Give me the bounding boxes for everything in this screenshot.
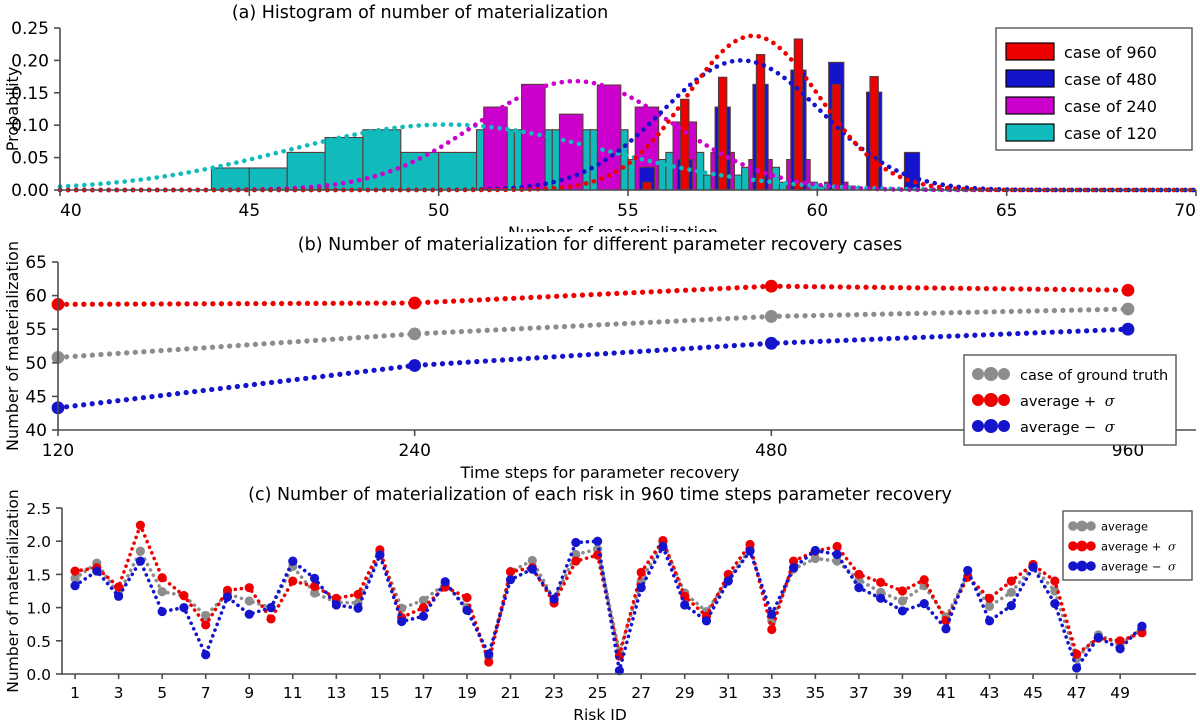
legend-marker: [984, 367, 998, 381]
data-point: [724, 576, 733, 585]
data-point: [288, 576, 297, 585]
data-point: [136, 557, 145, 566]
data-point: [114, 592, 123, 601]
legend-marker: [998, 368, 1010, 380]
legend-marker: [984, 419, 998, 433]
legend-marker: [1077, 561, 1088, 572]
data-point: [179, 591, 188, 600]
legend-label: case of 480: [1064, 70, 1157, 89]
data-point: [963, 566, 972, 575]
data-point: [1137, 622, 1146, 631]
data-point: [1007, 601, 1016, 610]
y-tick-label: 50: [25, 354, 47, 374]
legend-label: case of 240: [1064, 97, 1157, 116]
legend-marker: [998, 420, 1010, 432]
data-point: [811, 546, 820, 555]
data-point: [506, 575, 515, 584]
data-point: [898, 606, 907, 615]
data-point: [637, 583, 646, 592]
subplot-a-title: (a) Histogram of number of materializati…: [232, 3, 608, 23]
y-tick-label: 2.0: [26, 533, 51, 551]
x-tick-label: 60: [807, 201, 829, 221]
data-point: [1050, 576, 1059, 585]
data-point: [408, 328, 421, 341]
data-point: [920, 599, 929, 608]
histogram-bar: [794, 39, 802, 190]
subplot-c-legend: averageaverage + σaverage − σ: [1063, 511, 1192, 580]
data-point: [266, 614, 275, 623]
x-tick-label: 11: [283, 684, 303, 702]
legend-marker: [1077, 541, 1088, 552]
data-point: [876, 578, 885, 587]
data-point: [571, 557, 580, 566]
data-point: [898, 586, 907, 595]
x-tick-label: 7: [201, 684, 211, 702]
y-tick-label: 1.5: [26, 566, 51, 584]
y-tick-label: 45: [25, 387, 47, 407]
subplot-b-title: (b) Number of materialization for differ…: [298, 235, 902, 255]
legend-marker: [1086, 561, 1096, 571]
x-tick-label: 45: [1023, 684, 1043, 702]
data-point: [833, 550, 842, 559]
sigma-symbol: σ: [1105, 394, 1116, 410]
x-tick-label: 39: [893, 684, 913, 702]
data-point: [1007, 576, 1016, 585]
x-tick-label: 27: [631, 684, 651, 702]
x-tick-label: 25: [588, 684, 608, 702]
histogram-bar: [439, 152, 477, 190]
histogram-bar: [484, 107, 507, 190]
data-point: [528, 564, 537, 573]
legend-swatch: [1006, 70, 1054, 87]
data-point: [767, 625, 776, 634]
x-tick-label: 41: [936, 684, 956, 702]
data-point: [1094, 633, 1103, 642]
legend-marker: [1068, 541, 1078, 551]
legend-marker: [984, 393, 998, 407]
data-point: [179, 603, 188, 612]
data-point: [985, 602, 994, 611]
legend-marker: [972, 368, 984, 380]
x-tick-label: 55: [617, 201, 639, 221]
data-point: [484, 657, 493, 666]
y-tick-label: 0.00: [11, 181, 49, 201]
data-point: [1028, 563, 1037, 572]
data-point: [245, 610, 254, 619]
sigma-symbol: σ: [1168, 560, 1177, 574]
histogram-bar: [363, 130, 401, 190]
subplot-a-legend: case of 960case of 480case of 240case of…: [996, 28, 1192, 150]
data-point: [375, 551, 384, 560]
x-tick-label: 50: [428, 201, 450, 221]
data-point: [92, 566, 101, 575]
data-point: [462, 606, 471, 615]
histogram-bar: [719, 77, 727, 190]
y-tick-label: 0.25: [11, 19, 49, 39]
data-point: [397, 617, 406, 626]
data-point: [833, 542, 842, 551]
subplot-c-svg: (c) Number of materialization of each ri…: [0, 482, 1200, 727]
x-tick-label: 13: [326, 684, 346, 702]
data-point: [354, 604, 363, 613]
legend-marker: [1077, 521, 1088, 532]
legend-label: case of ground truth: [1020, 368, 1168, 384]
data-point: [136, 521, 145, 530]
x-tick-label: 49: [1110, 684, 1130, 702]
data-point: [637, 568, 646, 577]
x-tick-label: 40: [60, 201, 82, 221]
legend-marker: [1086, 521, 1096, 531]
data-point: [1007, 588, 1016, 597]
data-point: [1122, 303, 1135, 316]
subplot-b-lineplot: (b) Number of materialization for differ…: [0, 232, 1200, 482]
subplot-b-svg: (b) Number of materialization for differ…: [0, 232, 1200, 482]
data-point: [854, 570, 863, 579]
figure-canvas: (a) Histogram of number of materializati…: [0, 0, 1200, 727]
x-tick-label: 33: [762, 684, 782, 702]
x-tick-label: 35: [805, 684, 825, 702]
data-point: [549, 594, 558, 603]
legend-marker: [1068, 561, 1078, 571]
data-point: [70, 566, 79, 575]
x-tick-label: 1: [70, 684, 80, 702]
legend-swatch: [1006, 124, 1054, 141]
data-point: [1072, 663, 1081, 672]
data-point: [1116, 644, 1125, 653]
y-tick-label: 60: [25, 287, 47, 307]
sigma-symbol: σ: [1168, 540, 1177, 554]
subplot-c-title: (c) Number of materialization of each ri…: [248, 485, 952, 505]
y-tick-label: 2.5: [26, 500, 51, 518]
x-tick-label: 70: [1174, 201, 1196, 221]
histogram-bar: [249, 168, 287, 190]
subplot-b-xlabel: Time steps for parameter recovery: [460, 463, 740, 482]
histogram-bar: [211, 168, 249, 190]
x-tick-label: 65: [996, 201, 1018, 221]
data-point: [985, 616, 994, 625]
y-tick-label: 0.5: [26, 633, 51, 651]
data-point: [332, 600, 341, 609]
data-point: [1050, 599, 1059, 608]
data-point: [789, 563, 798, 572]
x-tick-label: 31: [718, 684, 738, 702]
x-tick-label: 37: [849, 684, 869, 702]
legend-marker: [972, 394, 984, 406]
data-point: [745, 547, 754, 556]
data-point: [201, 650, 210, 659]
legend-swatch: [1006, 97, 1054, 114]
histogram-bar: [643, 182, 651, 190]
subplot-c-xlabel: Risk ID: [573, 706, 627, 724]
data-point: [441, 577, 450, 586]
y-tick-label: 1.0: [26, 600, 51, 618]
legend-marker: [972, 420, 984, 432]
x-tick-label: 5: [157, 684, 167, 702]
legend-label: average: [1101, 520, 1148, 534]
sigma-symbol: σ: [1105, 420, 1116, 436]
x-tick-label: 23: [544, 684, 564, 702]
data-point: [765, 310, 778, 323]
data-point: [70, 581, 79, 590]
data-point: [223, 592, 232, 601]
data-point: [702, 616, 711, 625]
x-tick-label: 120: [42, 441, 74, 461]
x-tick-label: 47: [1067, 684, 1087, 702]
x-tick-label: 19: [457, 684, 477, 702]
subplot-a-svg: (a) Histogram of number of materializati…: [0, 0, 1200, 232]
data-point: [158, 607, 167, 616]
data-point: [854, 583, 863, 592]
data-point: [941, 624, 950, 633]
legend-label: case of 120: [1064, 124, 1157, 143]
data-point: [158, 573, 167, 582]
data-point: [245, 596, 254, 605]
y-tick-label: 0.0: [26, 666, 51, 684]
legend-label: case of 960: [1064, 43, 1157, 62]
legend-marker: [998, 394, 1010, 406]
legend-marker: [1068, 521, 1078, 531]
subplot-a-ylabel: Probability: [3, 67, 22, 152]
data-point: [1122, 323, 1135, 336]
x-tick-label: 240: [398, 441, 430, 461]
data-point: [266, 603, 275, 612]
data-point: [920, 575, 929, 584]
data-point: [158, 587, 167, 596]
data-point: [765, 280, 778, 293]
y-tick-label: 55: [25, 320, 47, 340]
histogram-bar: [522, 84, 545, 190]
x-tick-label: 45: [239, 201, 261, 221]
x-tick-label: 9: [244, 684, 254, 702]
data-point: [658, 542, 667, 551]
data-point: [462, 593, 471, 602]
data-point: [1122, 284, 1135, 297]
data-point: [310, 574, 319, 583]
legend-swatch: [1006, 43, 1054, 60]
data-point: [571, 538, 580, 547]
subplot-c-ylabel: Number of materialization: [4, 489, 22, 692]
subplot-b-legend: case of ground truthaverage + σaverage −…: [964, 355, 1176, 445]
subplot-a-histogram: (a) Histogram of number of materializati…: [0, 0, 1200, 232]
data-point: [506, 567, 515, 576]
data-point: [898, 596, 907, 605]
data-point: [765, 337, 778, 350]
legend-marker: [1086, 541, 1096, 551]
histogram-bar: [904, 152, 919, 190]
data-point: [876, 594, 885, 603]
data-point: [408, 297, 421, 310]
data-point: [201, 620, 210, 629]
x-tick-label: 480: [755, 441, 787, 461]
x-tick-label: 29: [675, 684, 695, 702]
x-tick-label: 17: [414, 684, 434, 702]
data-point: [593, 537, 602, 546]
subplot-a-xlabel: Number of materialization: [508, 223, 718, 232]
histogram-bar: [870, 77, 878, 190]
data-point: [767, 610, 776, 619]
x-tick-label: 3: [114, 684, 124, 702]
subplot-b-ylabel: Number of materialization: [3, 241, 22, 451]
subplot-c-axes: [62, 508, 1196, 674]
series-line: [58, 286, 1128, 304]
x-tick-label: 43: [980, 684, 1000, 702]
data-point: [408, 359, 421, 372]
y-tick-label: 65: [25, 253, 47, 273]
subplot-c-lineplot: (c) Number of materialization of each ri…: [0, 482, 1200, 727]
histogram-bar: [832, 84, 840, 190]
series-line: [58, 309, 1128, 357]
data-point: [136, 547, 145, 556]
data-point: [985, 594, 994, 603]
data-point: [1116, 636, 1125, 645]
histogram-bar: [681, 99, 689, 190]
data-point: [419, 612, 428, 621]
x-tick-label: 21: [501, 684, 521, 702]
x-tick-label: 15: [370, 684, 390, 702]
y-tick-label: 40: [25, 421, 47, 441]
data-point: [245, 583, 254, 592]
data-point: [484, 649, 493, 658]
data-point: [680, 600, 689, 609]
data-point: [288, 557, 297, 566]
